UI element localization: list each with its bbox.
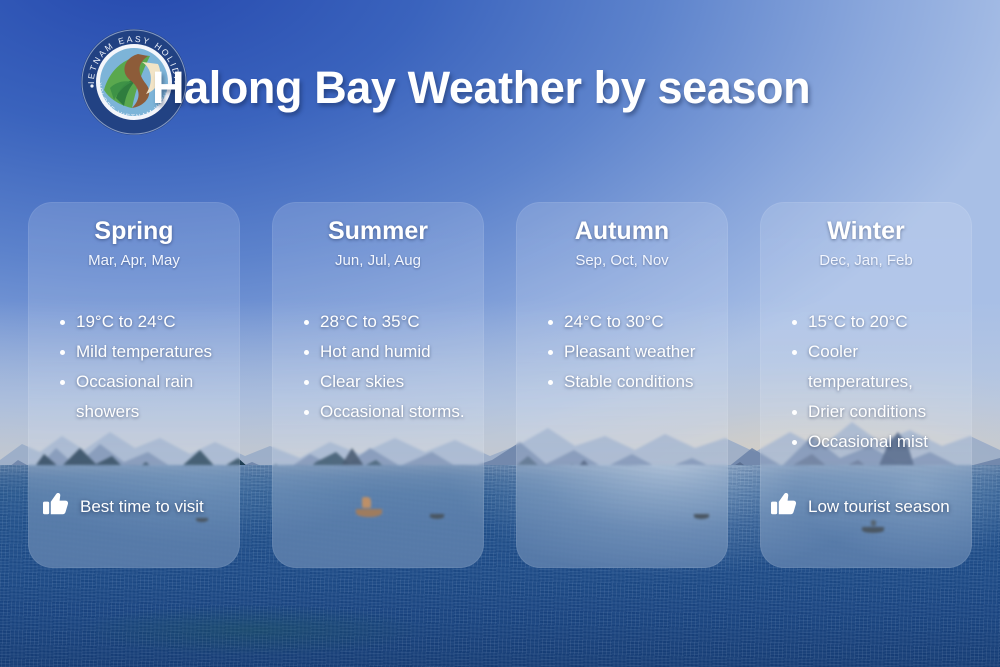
list-item: Occasional mist [792, 427, 960, 457]
season-months: Sep, Oct, Nov [528, 252, 716, 269]
list-item: 19°C to 24°C [60, 307, 228, 337]
page-title: Halong Bay Weather by season [152, 62, 810, 114]
list-item: Drier conditions [792, 397, 960, 427]
list-item: 28°C to 35°C [304, 307, 472, 337]
season-months: Mar, Apr, May [40, 252, 228, 269]
season-card-autumn[interactable]: Autumn Sep, Oct, Nov 24°C to 30°C Pleasa… [516, 202, 728, 568]
season-title: Autumn [528, 218, 716, 246]
season-months: Dec, Jan, Feb [772, 252, 960, 269]
season-title: Spring [40, 218, 228, 246]
list-item: Occasional rain showers [60, 367, 228, 427]
list-item: Stable conditions [548, 367, 716, 397]
list-item: Occasional storms. [304, 397, 472, 427]
season-footer-badge: Low tourist season [768, 489, 950, 524]
season-title: Winter [772, 218, 960, 246]
season-card-winter[interactable]: Winter Dec, Jan, Feb 15°C to 20°C Cooler… [760, 202, 972, 568]
list-item: Hot and humid [304, 337, 472, 367]
header: VIETNAM EASY HOLIDAY EXPLORE VIETNAM WIT… [0, 0, 1000, 170]
season-months: Jun, Jul, Aug [284, 252, 472, 269]
season-footer-badge: Best time to visit [40, 489, 204, 524]
thumbs-up-icon [40, 489, 70, 524]
thumbs-up-icon [768, 489, 798, 524]
season-bullets: 28°C to 35°C Hot and humid Clear skies O… [284, 307, 472, 427]
season-bullets: 24°C to 30°C Pleasant weather Stable con… [528, 307, 716, 397]
season-bullets: 15°C to 20°C Cooler temperatures, Drier … [772, 307, 960, 457]
list-item: Cooler temperatures, [792, 337, 960, 397]
season-bullets: 19°C to 24°C Mild temperatures Occasiona… [40, 307, 228, 427]
infographic-canvas: VIETNAM EASY HOLIDAY EXPLORE VIETNAM WIT… [0, 0, 1000, 667]
season-footer-label: Low tourist season [808, 497, 950, 517]
season-title: Summer [284, 218, 472, 246]
list-item: Mild temperatures [60, 337, 228, 367]
season-card-summer[interactable]: Summer Jun, Jul, Aug 28°C to 35°C Hot an… [272, 202, 484, 568]
list-item: Pleasant weather [548, 337, 716, 367]
list-item: Clear skies [304, 367, 472, 397]
sea-green-tint [60, 600, 540, 660]
season-card-spring[interactable]: Spring Mar, Apr, May 19°C to 24°C Mild t… [28, 202, 240, 568]
list-item: 24°C to 30°C [548, 307, 716, 337]
list-item: 15°C to 20°C [792, 307, 960, 337]
season-footer-label: Best time to visit [80, 497, 204, 517]
season-cards-row: Spring Mar, Apr, May 19°C to 24°C Mild t… [28, 202, 972, 568]
